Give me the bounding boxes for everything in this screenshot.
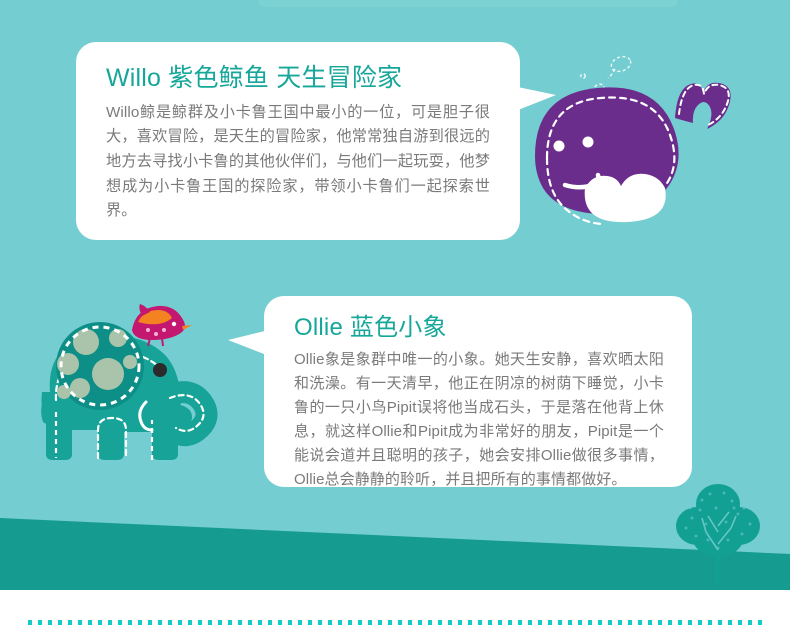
whale-illustration	[525, 48, 765, 263]
bird-illustration	[132, 304, 192, 346]
tree-illustration	[672, 478, 764, 588]
ollie-title: Ollie 蓝色小象	[294, 314, 664, 342]
willo-title: Willo 紫色鲸鱼 天生冒险家	[106, 64, 490, 93]
bottom-dotted-divider	[28, 620, 764, 625]
top-section-strip	[258, 0, 678, 7]
speech-tail-ollie	[228, 330, 269, 356]
whale-eye-right	[583, 137, 594, 148]
ollie-description: Ollie象是象群中唯一的小象。她天生安静，喜欢晒太阳和洗澡。有一天清早，他正在…	[294, 348, 664, 492]
elephant-illustration	[38, 300, 263, 485]
speech-bubble-ollie: Ollie 蓝色小象 Ollie象是象群中唯一的小象。她天生安静，喜欢晒太阳和洗…	[264, 296, 692, 487]
speech-bubble-willo: Willo 紫色鲸鱼 天生冒险家 Willo鲸是鲸群及小卡鲁王国中最小的一位，可…	[76, 42, 520, 240]
willo-description: Willo鲸是鲸群及小卡鲁王国中最小的一位，可是胆子很大，喜欢冒险，是天生的冒险…	[106, 101, 490, 224]
elephant-eye	[153, 363, 167, 377]
whale-eye-left	[554, 141, 565, 152]
product-story-section: Willo 紫色鲸鱼 天生冒险家 Willo鲸是鲸群及小卡鲁王国中最小的一位，可…	[0, 0, 790, 638]
